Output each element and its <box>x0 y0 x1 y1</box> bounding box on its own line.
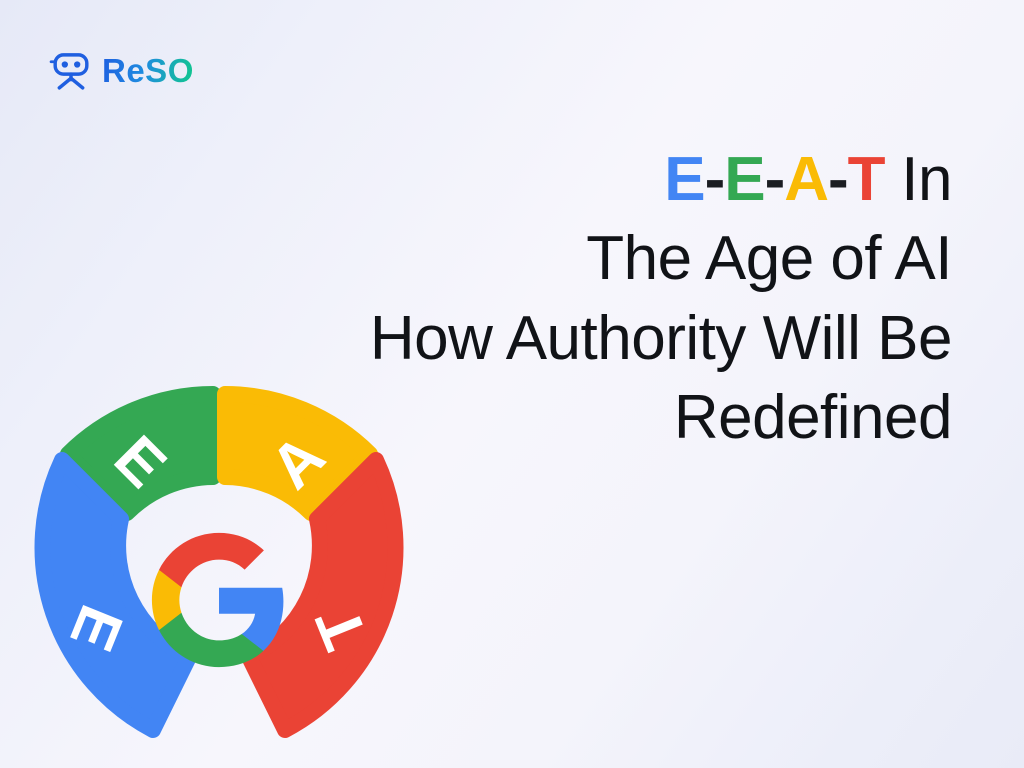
eeat-dash-1: - <box>705 145 725 214</box>
eeat-wheel-graphic: E A E T <box>0 372 440 768</box>
eeat-letter-e2: E <box>724 145 764 214</box>
eeat-letter-e1: E <box>664 145 704 214</box>
title-suffix-in <box>885 145 902 214</box>
eeat-letter-a: A <box>784 145 828 214</box>
brand-name: ReSO <box>102 54 194 87</box>
slide-canvas: ReSO E-E-A-T In The Age of AI How Author… <box>0 0 1024 768</box>
eeat-dash-2: - <box>765 145 785 214</box>
robot-head-icon <box>49 48 93 92</box>
eeat-letter-t: T <box>848 145 885 214</box>
title-line-2: The Age of AI <box>312 219 952 298</box>
google-g-icon <box>152 533 284 667</box>
brand-logo[interactable]: ReSO <box>49 48 194 92</box>
eeat-wheel-svg: E A E T <box>0 372 440 768</box>
eeat-dash-3: - <box>828 145 848 214</box>
title-line-1: E-E-A-T In <box>312 140 952 219</box>
title-line-3: How Authority Will Be <box>312 299 952 378</box>
title-word-in: In <box>901 145 952 214</box>
